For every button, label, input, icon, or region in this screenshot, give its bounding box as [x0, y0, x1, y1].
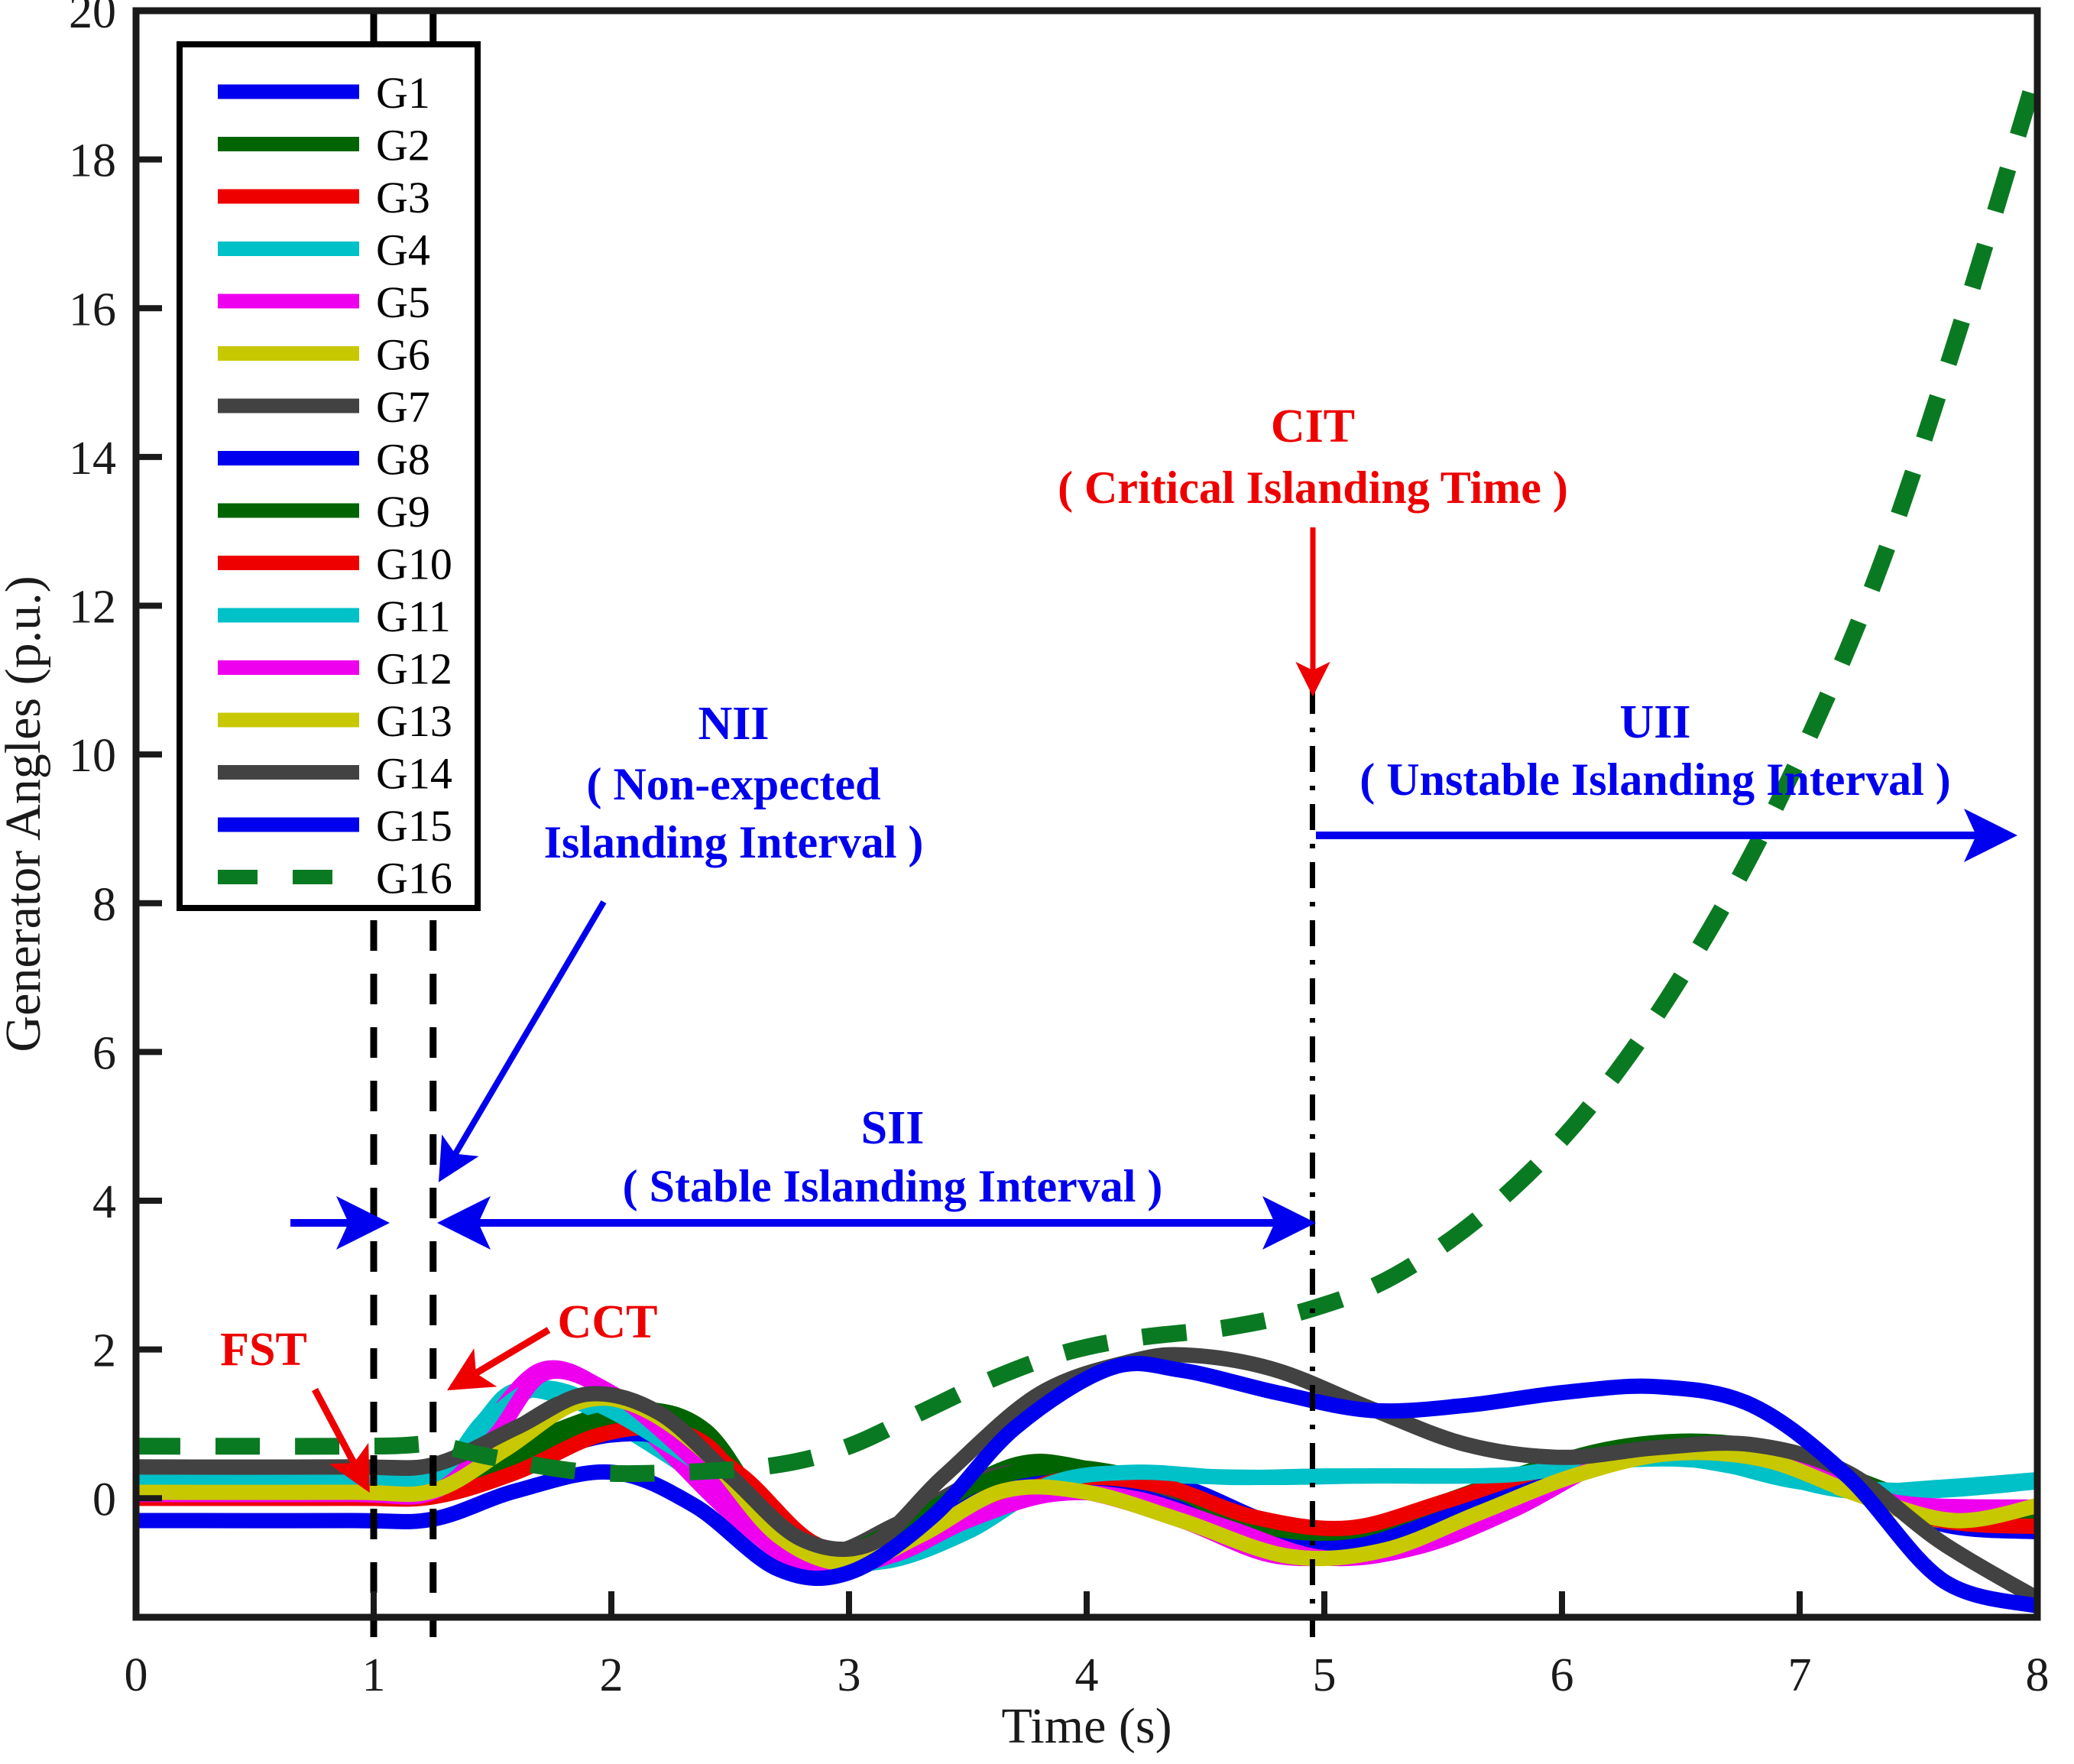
- y-tick-label: 0: [92, 1474, 116, 1526]
- uii-label: UII: [1619, 696, 1690, 748]
- nii-sublabel-line1: ( Non-expected: [587, 759, 881, 809]
- legend-label-g13: G13: [376, 696, 452, 746]
- generator-angles-plot: 012345678 02468101214161820 Time (s) Gen…: [0, 0, 2074, 1764]
- legend-label-g14: G14: [376, 749, 452, 799]
- y-tick-label: 14: [69, 433, 116, 485]
- x-tick-label: 6: [1551, 1649, 1574, 1701]
- legend-label-g15: G15: [376, 801, 452, 851]
- y-tick-label: 4: [92, 1176, 116, 1228]
- legend-label-g10: G10: [376, 540, 452, 589]
- legend-label-g2: G2: [376, 121, 430, 170]
- y-axis-title: Generator Angles (p.u.): [0, 576, 51, 1052]
- cct-label: CCT: [558, 1296, 658, 1348]
- nii-label: NII: [698, 698, 769, 750]
- legend: G1G2G3G4G5G6G7G8G9G10G11G12G13G14G15G16: [180, 44, 478, 908]
- y-tick-label: 20: [69, 0, 116, 38]
- legend-label-g7: G7: [376, 382, 430, 432]
- sii-sublabel: ( Stable Islanding Interval ): [623, 1161, 1163, 1211]
- y-tick-label: 8: [92, 879, 116, 931]
- legend-label-g16: G16: [376, 854, 452, 903]
- x-tick-label: 8: [2026, 1649, 2050, 1701]
- cit-label: CIT: [1271, 400, 1355, 452]
- x-axis-title: Time (s): [1001, 1698, 1171, 1754]
- legend-label-g12: G12: [376, 644, 452, 694]
- x-tick-label: 0: [125, 1649, 148, 1701]
- chart-root: 012345678 02468101214161820 Time (s) Gen…: [0, 0, 2074, 1764]
- x-tick-label: 7: [1788, 1649, 1812, 1701]
- legend-label-g1: G1: [376, 68, 430, 118]
- cit-sublabel: ( Critical Islanding Time ): [1058, 462, 1568, 513]
- fst-label: FST: [220, 1324, 307, 1376]
- x-tick-label: 2: [600, 1649, 624, 1701]
- y-tick-label: 16: [69, 284, 116, 336]
- y-tick-label: 2: [92, 1325, 116, 1377]
- nii-sublabel-line2: Islanding Interval ): [544, 817, 924, 867]
- legend-label-g11: G11: [376, 592, 451, 641]
- legend-label-g6: G6: [376, 330, 430, 380]
- legend-label-g4: G4: [376, 225, 430, 275]
- uii-sublabel: ( Unstable Islanding Interval ): [1359, 754, 1950, 805]
- x-tick-label: 1: [362, 1649, 386, 1701]
- y-tick-label: 12: [69, 582, 116, 634]
- legend-label-g5: G5: [376, 277, 430, 327]
- sii-label: SII: [861, 1102, 925, 1154]
- y-tick-label: 6: [92, 1027, 116, 1079]
- y-tick-label: 10: [69, 730, 116, 782]
- legend-label-g9: G9: [376, 487, 430, 537]
- legend-label-g8: G8: [376, 435, 430, 485]
- y-axis-tick-labels: 02468101214161820: [69, 0, 116, 1526]
- legend-label-g3: G3: [376, 173, 430, 222]
- x-tick-label: 4: [1075, 1649, 1099, 1701]
- x-axis-tick-labels: 012345678: [125, 1649, 2050, 1701]
- y-tick-label: 18: [69, 135, 116, 187]
- x-tick-label: 3: [838, 1649, 861, 1701]
- x-tick-label: 5: [1313, 1649, 1337, 1701]
